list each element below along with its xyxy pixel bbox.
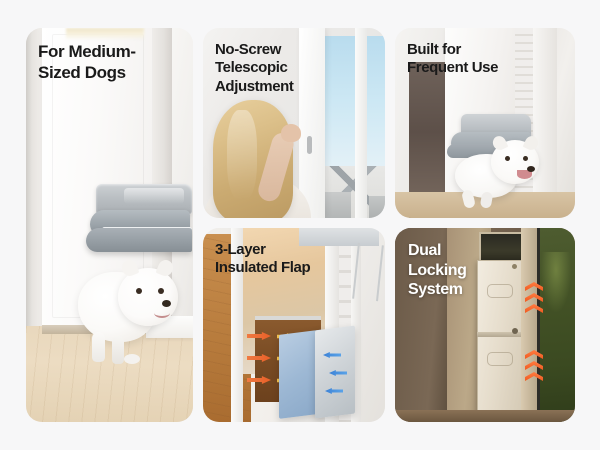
sliding-door-panel — [299, 28, 325, 218]
dog-leg-back — [480, 191, 494, 209]
feature-card-dual-lock[interactable]: Dual Locking System — [395, 228, 575, 422]
panel-emboss-lower — [487, 352, 513, 366]
flap-layer-bottom — [86, 228, 192, 252]
feature-card-medium-dogs[interactable]: For Medium- Sized Dogs — [26, 28, 193, 422]
woman-hand-adjusting — [281, 124, 301, 142]
feature-card-insulated-flap[interactable]: 3-Layer Insulated Flap — [203, 228, 385, 422]
pomeranian-dog-jumping — [455, 140, 555, 208]
door-jamb — [521, 228, 537, 422]
dog-nose — [162, 300, 171, 307]
neighbor-house-right — [369, 196, 385, 218]
lawn-highlight — [541, 252, 571, 312]
card-media-medium-dogs — [26, 28, 193, 422]
floor-strip — [395, 410, 575, 422]
flap-highlight — [124, 188, 184, 204]
dog-nose — [527, 166, 535, 172]
card-title-dual-lock: Dual Locking System — [408, 241, 467, 300]
dog-leg-front — [92, 332, 105, 362]
dog-eye-right — [158, 288, 164, 294]
panel-emboss-upper — [487, 284, 513, 298]
dog-paw — [124, 354, 140, 364]
lock-lower — [512, 328, 518, 334]
dog-eye-left — [136, 288, 142, 294]
ceiling-light-glow — [66, 28, 144, 40]
pomeranian-dog-walking — [78, 250, 182, 366]
dog-head — [118, 268, 178, 326]
card-title-insulated-flap: 3-Layer Insulated Flap — [215, 241, 310, 278]
dog-leg-back — [112, 336, 124, 364]
dog-eye-left — [505, 156, 510, 161]
outdoor-sky — [323, 36, 385, 170]
dog-eye-right — [523, 156, 528, 161]
door-mullion — [355, 28, 367, 218]
feature-card-frequent-use[interactable]: Built for Frequent Use — [395, 28, 575, 218]
card-title-medium-dogs: For Medium- Sized Dogs — [38, 42, 136, 83]
card-title-telescopic: No-Screw Telescopic Adjustment — [215, 41, 294, 96]
feature-grid: For Medium- Sized Dogs No-Screw Telescop… — [0, 0, 600, 450]
card-title-frequent-use: Built for Frequent Use — [407, 41, 498, 78]
door-handle — [307, 136, 312, 154]
pet-door-flap-unit — [86, 184, 192, 256]
dog-mouth — [154, 308, 170, 318]
feature-card-telescopic[interactable]: No-Screw Telescopic Adjustment — [203, 28, 385, 218]
neighbor-house-left — [325, 192, 351, 218]
lock-upper — [512, 264, 517, 269]
